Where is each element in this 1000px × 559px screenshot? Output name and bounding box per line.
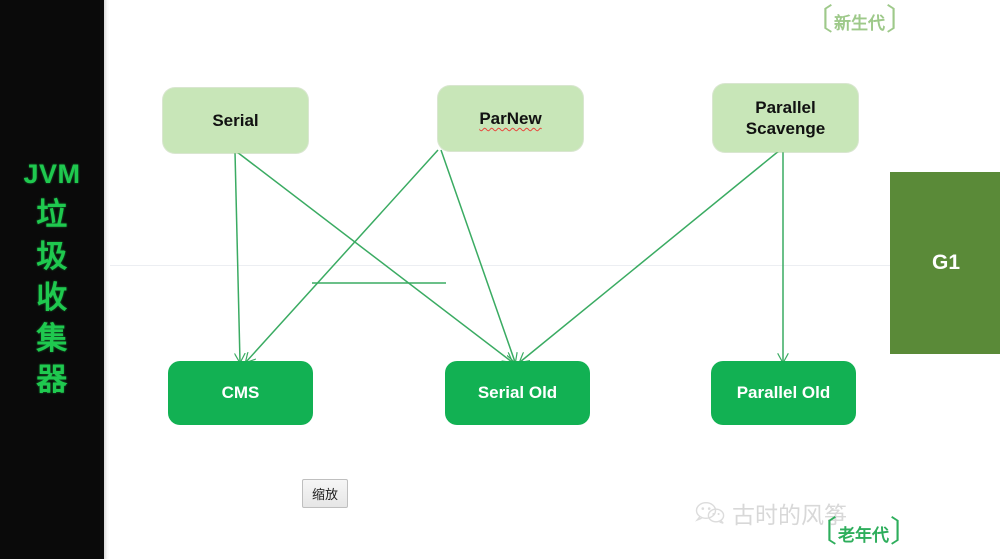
node-parallel-old[interactable]: Parallel Old xyxy=(711,361,856,425)
generation-tag-young: 〔 新生代 〕 xyxy=(802,6,917,36)
node-parallel-scavenge[interactable]: Parallel Scavenge xyxy=(713,84,858,152)
node-cms[interactable]: CMS xyxy=(168,361,313,425)
sidebar-title-char-4: 器 xyxy=(36,359,68,400)
diagram-screen: JVM 垃 圾 收 集 器 xyxy=(0,0,1000,559)
node-parallel-scavenge-line1: Parallel xyxy=(755,97,816,118)
bracket-right-young: 〕 xyxy=(885,6,917,36)
bracket-left-old: 〔 xyxy=(806,518,838,548)
connector-layer xyxy=(110,0,1000,559)
node-serial-label: Serial xyxy=(212,110,258,131)
generation-tag-young-label: 新生代 xyxy=(834,9,885,34)
link-serial-to-cms xyxy=(235,152,240,362)
node-g1-label: G1 xyxy=(932,251,960,275)
sidebar-title-char-2: 收 xyxy=(36,277,68,318)
generation-tag-old-label: 老年代 xyxy=(838,521,889,546)
bracket-right-old: 〕 xyxy=(889,518,921,548)
sidebar-title-rail: JVM 垃 圾 收 集 器 xyxy=(0,0,104,559)
sidebar-title-char-1: 圾 xyxy=(36,236,68,277)
zoom-button-label: 缩放 xyxy=(312,487,338,502)
node-parallel-scavenge-line2: Scavenge xyxy=(746,118,825,139)
node-parallel-old-label: Parallel Old xyxy=(737,383,831,403)
sidebar-title-char-0: 垃 xyxy=(36,194,68,235)
sidebar-title-latin: JVM xyxy=(23,159,80,191)
link-ps-to-serial-old xyxy=(520,150,780,362)
wechat-icon xyxy=(695,501,725,525)
node-serial-old[interactable]: Serial Old xyxy=(445,361,590,425)
zoom-button[interactable]: 缩放 xyxy=(302,479,348,508)
node-g1[interactable]: G1 xyxy=(890,172,1000,354)
node-serial-old-label: Serial Old xyxy=(478,383,557,403)
node-parnew-label: ParNew xyxy=(479,108,541,129)
bracket-left-young: 〔 xyxy=(802,6,834,36)
diagram-canvas[interactable]: Serial ParNew Parallel Scavenge CMS Seri… xyxy=(110,0,1000,559)
link-parnew-to-serial-old xyxy=(441,150,515,362)
link-serial-to-serial-old xyxy=(237,152,512,362)
node-serial[interactable]: Serial xyxy=(163,88,308,153)
node-cms-label: CMS xyxy=(222,383,260,403)
node-parnew[interactable]: ParNew xyxy=(438,86,583,151)
sidebar-title-char-3: 集 xyxy=(36,318,68,359)
sidebar-vertical-title: JVM 垃 圾 收 集 器 xyxy=(23,159,80,401)
generation-tag-old: 〔 老年代 〕 xyxy=(806,518,921,548)
